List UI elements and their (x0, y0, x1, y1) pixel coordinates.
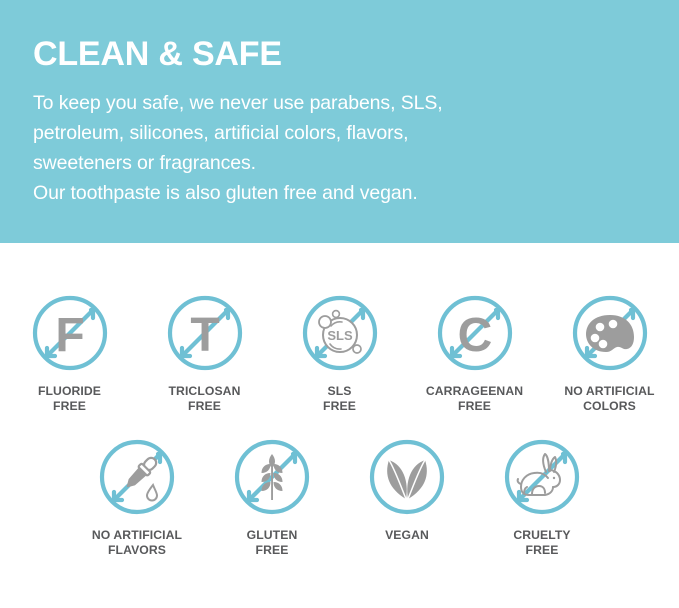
badge-triclosan-free: T TRICLOSAN FREE (137, 293, 272, 413)
badge-label: SLS FREE (323, 384, 356, 413)
badge-sls-free: SLS SLS FREE (272, 293, 407, 413)
badge-row-1: F FLUORIDE FREE T TRICLOSAN FREE (0, 243, 679, 413)
banner-body: To keep you safe, we never use parabens,… (33, 88, 649, 208)
badge-cruelty-free: CRUELTY FREE (475, 437, 610, 557)
dropper-icon (97, 437, 177, 517)
badge-no-artificial-colors: NO ARTIFICIAL COLORS (542, 293, 677, 413)
glyph-text: T (190, 309, 219, 362)
banner-body-line: petroleum, silicones, artificial colors,… (33, 118, 649, 148)
badge-label: NO ARTIFICIAL COLORS (564, 384, 654, 413)
glyph-text: C (457, 309, 492, 362)
letter-f-icon: F (30, 293, 110, 373)
banner: CLEAN & SAFE To keep you safe, we never … (0, 0, 679, 243)
badge-label: CRUELTY FREE (513, 528, 570, 557)
badge-label: GLUTEN FREE (247, 528, 298, 557)
badge-row-2: NO ARTIFICIAL FLAVORS (0, 413, 679, 557)
two-leaves-icon (367, 437, 447, 517)
clean-and-safe-infographic: CLEAN & SAFE To keep you safe, we never … (0, 0, 679, 608)
badge-label: NO ARTIFICIAL FLAVORS (92, 528, 182, 557)
badge-vegan: VEGAN (340, 437, 475, 543)
wheat-stalk-icon (232, 437, 312, 517)
glyph-text: F (55, 309, 84, 362)
letter-c-icon: C (435, 293, 515, 373)
paint-palette-icon (570, 293, 650, 373)
banner-body-line: To keep you safe, we never use parabens,… (33, 88, 649, 118)
badge-no-artificial-flavors: NO ARTIFICIAL FLAVORS (70, 437, 205, 557)
badge-gluten-free: GLUTEN FREE (205, 437, 340, 557)
badge-grid: F FLUORIDE FREE T TRICLOSAN FREE (0, 243, 679, 608)
sls-bubble-icon: SLS (300, 293, 380, 373)
rabbit-icon (502, 437, 582, 517)
banner-body-line: sweeteners or fragrances. (33, 148, 649, 178)
letter-t-icon: T (165, 293, 245, 373)
badge-carrageenan-free: C CARRAGEENAN FREE (407, 293, 542, 413)
badge-label: VEGAN (385, 528, 429, 543)
banner-body-line: Our toothpaste is also gluten free and v… (33, 178, 649, 208)
badge-label: FLUORIDE FREE (38, 384, 101, 413)
badge-label: CARRAGEENAN FREE (426, 384, 523, 413)
glyph-text: SLS (327, 328, 353, 343)
page-title: CLEAN & SAFE (33, 34, 649, 74)
badge-label: TRICLOSAN FREE (169, 384, 241, 413)
badge-fluoride-free: F FLUORIDE FREE (2, 293, 137, 413)
